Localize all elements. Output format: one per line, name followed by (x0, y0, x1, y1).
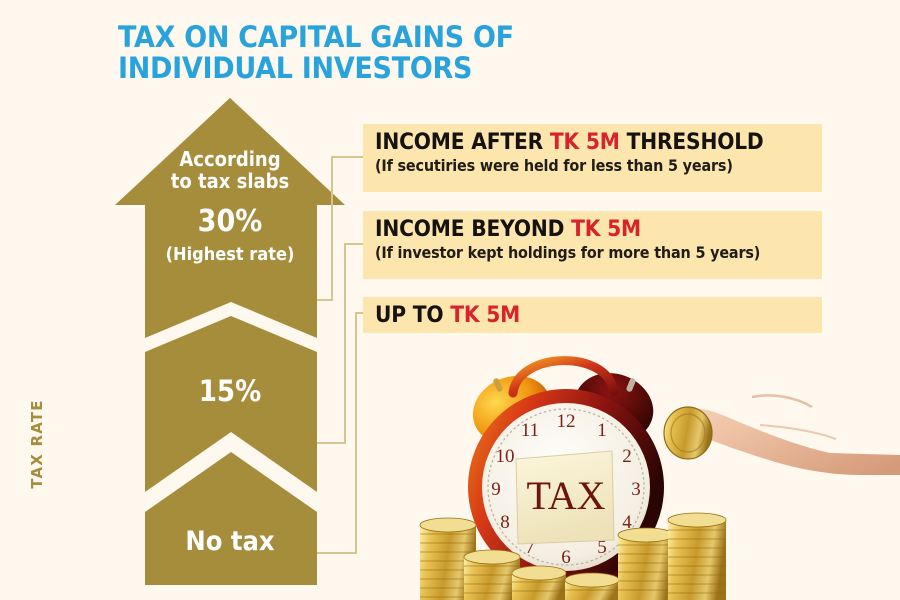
tax-sticky-note: TAX (516, 451, 614, 544)
callout-connectors (317, 157, 363, 553)
callout-box-income-after-threshold: INCOME AFTER TK 5M THRESHOLD (If secutir… (363, 124, 822, 192)
callout-box-income-beyond: INCOME BEYOND TK 5M (If investor kept ho… (363, 211, 822, 279)
callout-3-heading-pre: UP TO (375, 303, 450, 328)
coin-stack-6 (668, 513, 726, 600)
coin-stack-3 (512, 566, 566, 600)
svg-text:3: 3 (631, 479, 641, 500)
connector-bottom (317, 313, 363, 553)
coin-stack-5 (618, 528, 674, 600)
falling-coin (664, 407, 712, 459)
callout-1-subtext: (If secutiries were held for less than 5… (375, 156, 768, 176)
clock-coins-photo: 12 1 2 3 4 5 6 7 8 9 10 11 TAX (400, 335, 900, 600)
y-axis-label-tax-rate: TAX RATE (28, 389, 46, 499)
coin-stack-2 (464, 550, 520, 600)
svg-text:12: 12 (557, 411, 576, 432)
tax-note-text: TAX (526, 473, 605, 518)
hand-dropping-coin (676, 345, 900, 475)
callout-2-heading-amount: TK 5M (571, 217, 641, 242)
svg-text:8: 8 (500, 512, 510, 533)
connector-top (317, 157, 363, 300)
callout-1-heading-amount: TK 5M (550, 130, 620, 155)
svg-text:2: 2 (622, 446, 632, 467)
callout-3-heading-amount: TK 5M (450, 303, 520, 328)
svg-text:9: 9 (491, 479, 501, 500)
svg-text:6: 6 (561, 547, 571, 568)
svg-text:10: 10 (496, 446, 515, 467)
callout-2-subtext: (If investor kept holdings for more than… (375, 243, 768, 263)
callout-3-heading: UP TO TK 5M (375, 302, 777, 329)
callout-2-heading-pre: INCOME BEYOND (375, 217, 571, 242)
svg-text:11: 11 (521, 420, 539, 441)
callout-2-heading: INCOME BEYOND TK 5M (375, 216, 777, 243)
callout-1-heading-post: THRESHOLD (620, 130, 764, 155)
callout-1-heading-pre: INCOME AFTER (375, 130, 550, 155)
callout-box-up-to: UP TO TK 5M (363, 297, 822, 333)
callout-1-heading: INCOME AFTER TK 5M THRESHOLD (375, 129, 777, 156)
svg-text:1: 1 (597, 420, 607, 441)
infographic-root: TAX ON CAPITAL GAINS OF INDIVIDUAL INVES… (0, 0, 900, 600)
coin-stack-4 (565, 573, 619, 600)
